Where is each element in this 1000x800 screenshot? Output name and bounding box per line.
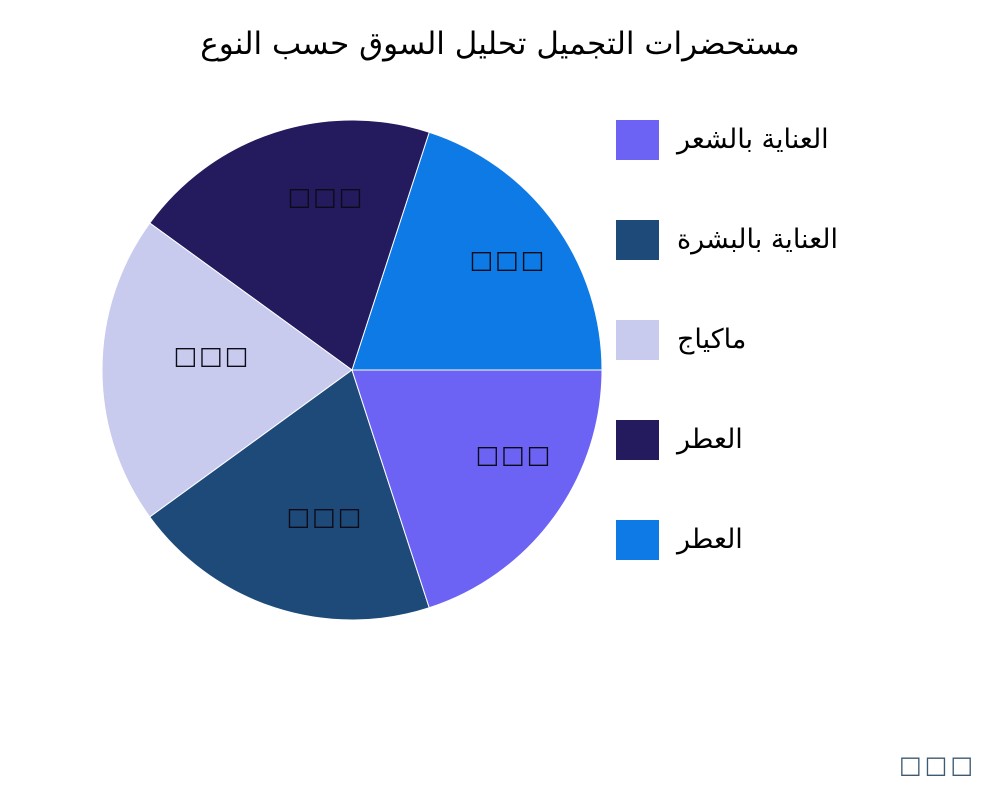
legend-item-label: ماكياج (659, 323, 1000, 357)
pie-slice-label: □□□ (174, 341, 251, 370)
legend-item-label: العناية بالبشرة (659, 223, 1000, 257)
pie-slice-label: □□□ (288, 182, 365, 211)
chart-legend: العناية بالشعرالعناية بالبشرةماكياجالعطر… (612, 118, 1000, 588)
page-title: مستحضرات التجميل تحليل السوق حسب النوع (0, 24, 1000, 64)
legend-color-swatch (616, 520, 659, 560)
legend-item[interactable]: ماكياج (612, 318, 1000, 362)
pie-chart: □□□□□□□□□□□□□□□ (102, 120, 602, 620)
legend-color-swatch (616, 220, 659, 260)
legend-color-swatch (616, 320, 659, 360)
legend-item[interactable]: العناية بالبشرة (612, 218, 1000, 262)
legend-color-swatch (616, 420, 659, 460)
legend-item[interactable]: العطر (612, 418, 1000, 462)
pie-svg: □□□□□□□□□□□□□□□ (102, 120, 602, 620)
legend-item[interactable]: العناية بالشعر (612, 118, 1000, 162)
legend-item-label: العطر (659, 423, 1000, 457)
pie-slice-label: □□□ (287, 502, 364, 531)
legend-item-label: العناية بالشعر (659, 123, 1000, 157)
pie-slice-label: □□□ (476, 440, 553, 469)
legend-item[interactable]: العطر (612, 518, 1000, 562)
pie-slice-label: □□□ (470, 245, 547, 274)
legend-color-swatch (616, 120, 659, 160)
footer-watermark: □□□ (899, 750, 976, 780)
chart-figure: مستحضرات التجميل تحليل السوق حسب النوع □… (0, 0, 1000, 800)
legend-item-label: العطر (659, 523, 1000, 557)
